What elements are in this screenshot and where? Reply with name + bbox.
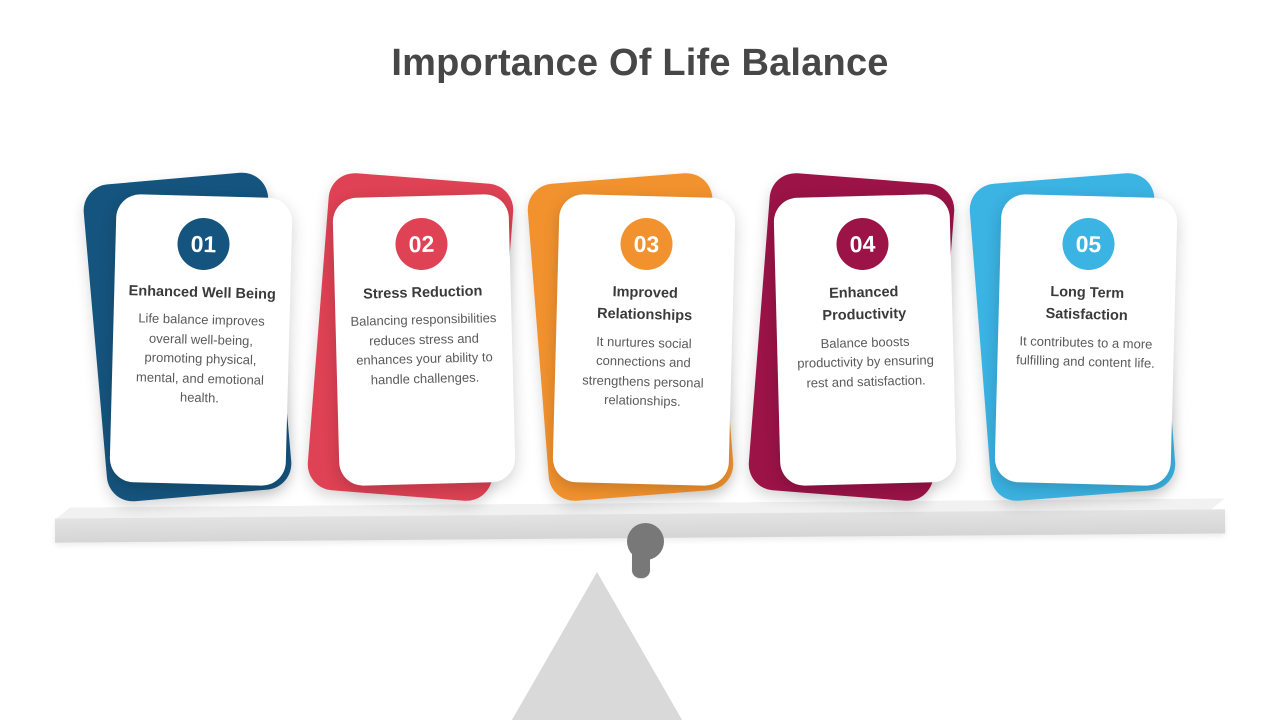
card-stress-reduction[interactable]: 02Stress ReductionBalancing responsibili… <box>318 178 518 508</box>
card-enhanced-well-being[interactable]: 01Enhanced Well BeingLife balance improv… <box>95 178 295 508</box>
step-number-badge: 02 <box>395 217 448 270</box>
slide-canvas: Importance Of Life Balance 01Enhanced We… <box>0 0 1280 720</box>
step-number-badge: 04 <box>836 217 889 270</box>
card-enhanced-productivity[interactable]: 04Enhanced ProductivityBalance boosts pr… <box>759 178 959 508</box>
card-body-text: Balancing responsibilities reduces stres… <box>347 308 501 390</box>
card-body-text: Life balance improves overall well-being… <box>123 308 278 409</box>
card-panel[interactable]: 02Stress ReductionBalancing responsibili… <box>332 194 515 487</box>
cards-container: 01Enhanced Well BeingLife balance improv… <box>0 0 1280 720</box>
card-body-text: It nurtures social connections and stren… <box>566 331 720 413</box>
card-heading: Enhanced Productivity <box>788 280 941 329</box>
step-number-badge: 03 <box>620 217 673 270</box>
card-body-text: It contributes to a more fulfilling and … <box>1009 331 1162 374</box>
card-panel[interactable]: 01Enhanced Well BeingLife balance improv… <box>109 194 292 487</box>
card-improved-relationships[interactable]: 03Improved RelationshipsIt nurtures soci… <box>538 178 738 508</box>
card-heading: Improved Relationships <box>568 280 721 329</box>
card-panel[interactable]: 03Improved RelationshipsIt nurtures soci… <box>552 194 735 487</box>
card-heading: Long Term Satisfaction <box>1010 280 1163 329</box>
step-number-badge: 01 <box>177 217 230 270</box>
card-panel[interactable]: 05Long Term SatisfactionIt contributes t… <box>994 194 1177 487</box>
card-panel[interactable]: 04Enhanced ProductivityBalance boosts pr… <box>773 194 956 487</box>
card-body-text: Balance boosts productivity by ensuring … <box>789 331 942 393</box>
step-number-badge: 05 <box>1062 217 1115 270</box>
card-long-term-satisfaction[interactable]: 05Long Term SatisfactionIt contributes t… <box>980 178 1180 508</box>
card-heading: Stress Reduction <box>347 280 500 306</box>
card-heading: Enhanced Well Being <box>126 280 279 306</box>
